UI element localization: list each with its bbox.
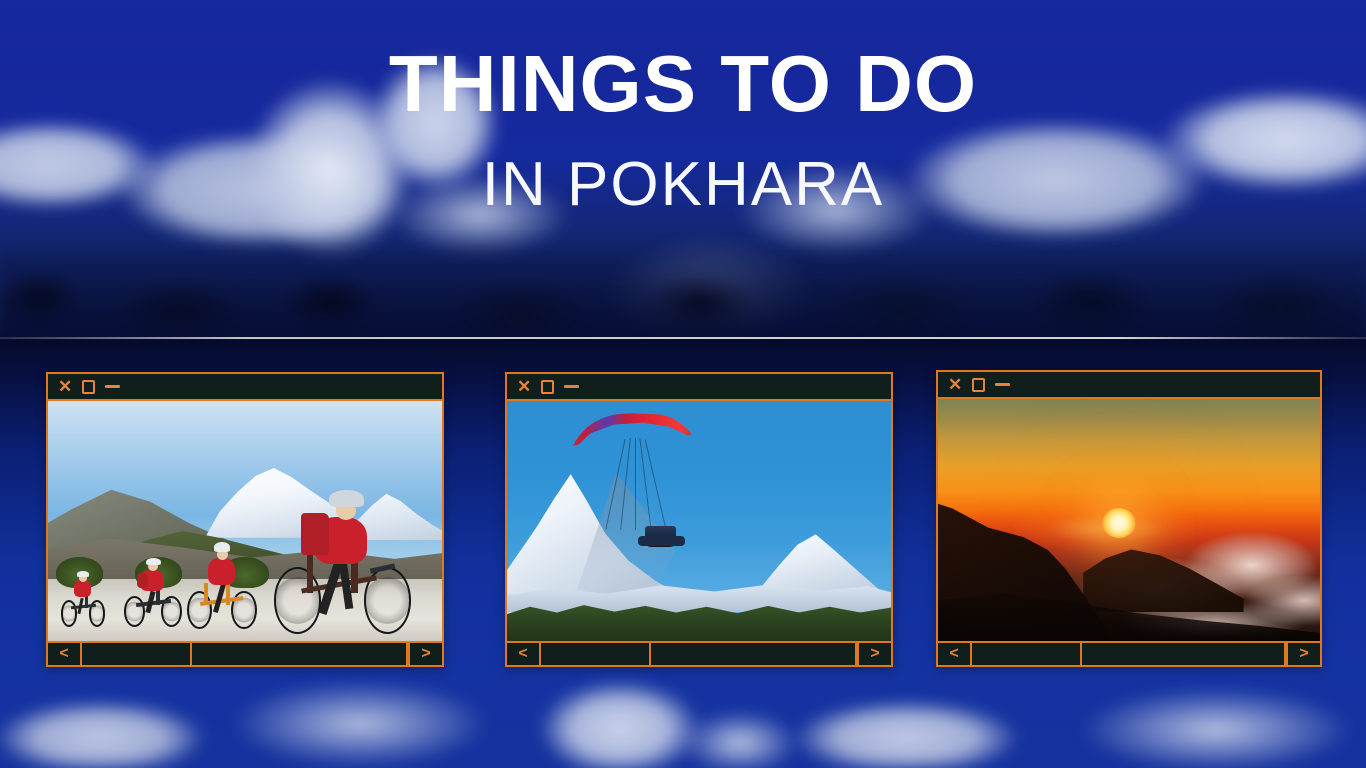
minimize-icon[interactable]: [105, 385, 120, 388]
photo-sun: [1102, 508, 1136, 538]
prev-button[interactable]: <: [938, 643, 972, 665]
sunrise-viewpoint-photo: [938, 399, 1320, 641]
background-horizon-rule: [0, 337, 1366, 339]
card-bottombar: < >: [507, 641, 891, 665]
close-icon[interactable]: ✕: [517, 378, 531, 395]
prev-button[interactable]: <: [507, 643, 541, 665]
paraglider-canopy: [568, 413, 699, 471]
photo-card-sunrise[interactable]: ✕ < >: [936, 370, 1322, 667]
slide-heading-group: THINGS TO DO IN POKHARA: [0, 0, 1366, 216]
maximize-icon[interactable]: [541, 380, 554, 394]
bottombar-segment: [82, 643, 192, 665]
minimize-icon[interactable]: [564, 385, 579, 388]
paragliding-photo: [507, 401, 891, 641]
card-titlebar: ✕: [507, 374, 891, 401]
cyclist-foreground: [273, 475, 431, 633]
photo-card-paragliding[interactable]: ✕ < >: [505, 372, 893, 667]
background-reflection-right: [786, 650, 1366, 768]
bottombar-segment: [192, 643, 408, 665]
close-icon[interactable]: ✕: [58, 378, 72, 395]
card-bottombar: < >: [48, 641, 442, 665]
maximize-icon[interactable]: [82, 380, 95, 394]
next-button[interactable]: >: [1286, 643, 1320, 665]
page-subtitle: IN POKHARA: [0, 154, 1366, 216]
minimize-icon[interactable]: [995, 383, 1010, 386]
cyclist: [60, 564, 123, 626]
card-titlebar: ✕: [938, 372, 1320, 399]
close-icon[interactable]: ✕: [948, 376, 962, 393]
bottombar-segment: [541, 643, 651, 665]
next-button[interactable]: >: [408, 643, 442, 665]
bottombar-segment: [1082, 643, 1286, 665]
cyclist: [186, 528, 277, 629]
paraglider-lines: [615, 438, 654, 530]
prev-button[interactable]: <: [48, 643, 82, 665]
bottombar-segment: [651, 643, 857, 665]
bottombar-segment: [972, 643, 1082, 665]
page-title: THINGS TO DO: [0, 44, 1366, 124]
mountain-biking-photo: [48, 401, 442, 641]
next-button[interactable]: >: [857, 643, 891, 665]
card-bottombar: < >: [938, 641, 1320, 665]
photo-card-mountain-biking[interactable]: ✕: [46, 372, 444, 667]
maximize-icon[interactable]: [972, 378, 985, 392]
card-titlebar: ✕: [48, 374, 442, 401]
paraglider-pilot: [645, 526, 676, 548]
